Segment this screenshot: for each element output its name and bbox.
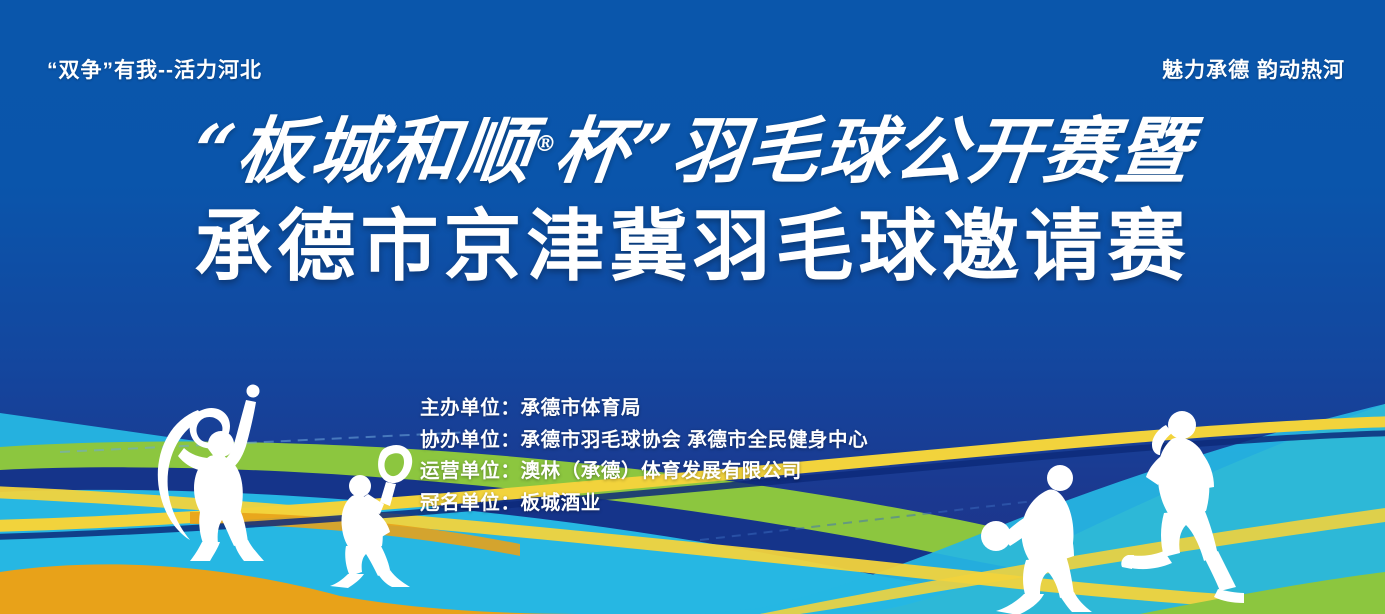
credit-row-host: 主办单位：承德市体育局 (420, 393, 868, 425)
credit-row-cohost: 协办单位：承德市羽毛球协会 承德市全民健身中心 (420, 425, 868, 457)
basketball-dribbler-silhouette (978, 460, 1113, 614)
slogan-left: “双争”有我--活力河北 (47, 54, 262, 84)
slogan-right: 魅力承德 韵动热河 (1162, 54, 1345, 84)
title-line-1-suffix: 杯”羽毛球公开赛暨 (550, 108, 1196, 193)
runner-silhouette (1120, 405, 1255, 605)
racket-forehand-silhouette (322, 440, 437, 588)
organiser-credits: 主办单位：承德市体育局 协办单位：承德市羽毛球协会 承德市全民健身中心 运营单位… (420, 393, 868, 519)
credit-row-operator: 运营单位：澳林（承德）体育发展有限公司 (420, 456, 868, 488)
title-line-1-prefix: “板城和顺 (189, 108, 539, 193)
event-banner: “双争”有我--活力河北 魅力承德 韵动热河 “板城和顺®杯”羽毛球公开赛暨 承… (0, 0, 1385, 614)
tennis-server-silhouette (140, 378, 300, 563)
title-line-1: “板城和顺®杯”羽毛球公开赛暨 (0, 112, 1385, 190)
title-block: “板城和顺®杯”羽毛球公开赛暨 承德市京津冀羽毛球邀请赛 (0, 112, 1385, 288)
title-line-2: 承德市京津冀羽毛球邀请赛 (0, 206, 1385, 288)
credit-row-sponsor: 冠名单位：板城酒业 (420, 488, 868, 520)
